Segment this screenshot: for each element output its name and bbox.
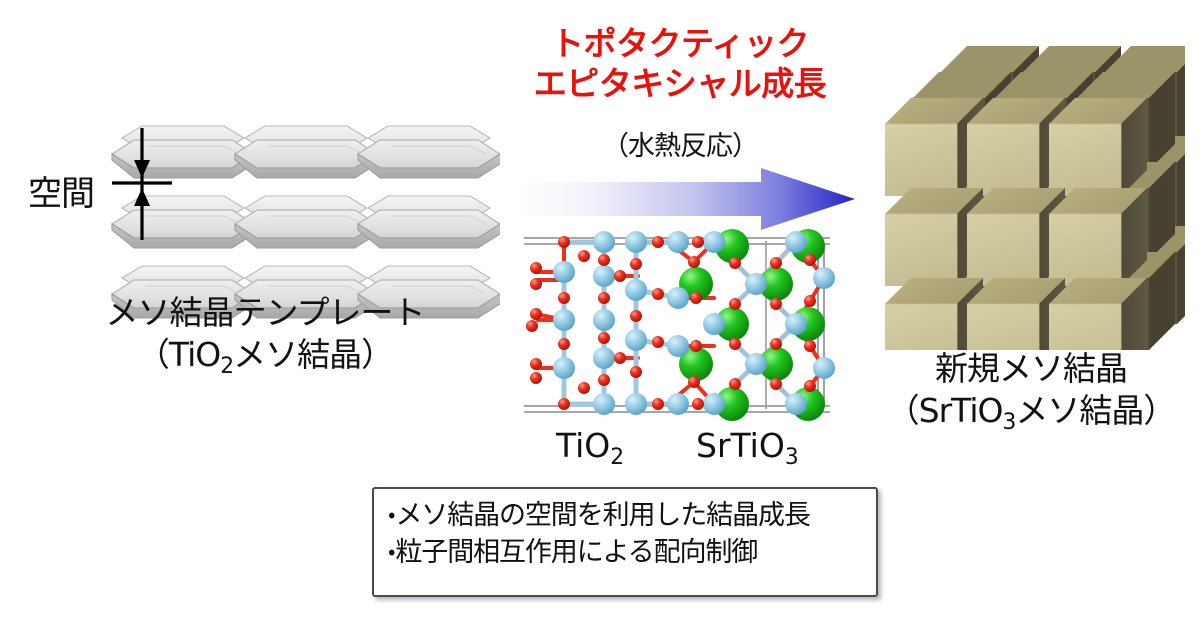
template-caption-line2: （TiO2メソ結晶） (40, 334, 490, 381)
product-formula-suffix: メソ結晶） (1015, 391, 1175, 430)
srtio3-subscript: 3 (785, 445, 799, 470)
atomic-structure-illustration (518, 228, 836, 424)
process-title-line1: トポタクティック (470, 24, 890, 64)
label-tio2: TiO2 (556, 426, 624, 470)
crystal-phase-labels: TiO2 SrTiO3 (518, 426, 848, 470)
srtio3-mesocrystal-cube-array (885, 20, 1185, 350)
template-caption: メソ結晶テンプレート （TiO2メソ結晶） (40, 292, 490, 381)
tio2-prefix: TiO (556, 426, 610, 465)
interlayer-gap-dimension-arrow (112, 128, 172, 240)
rightward-gradient-arrow (519, 168, 855, 230)
product-formula-prefix: （SrTiO (887, 391, 1003, 430)
figure-canvas: トポタクティック エピタキシャル成長 （水熱反応） (0, 0, 1200, 630)
ti-lattice-struts (564, 242, 678, 404)
tio2-subscript: 2 (610, 445, 624, 470)
summary-line-2: ・粒子間相互作用による配向制御 (388, 534, 876, 571)
label-srtio3: SrTiO3 (696, 426, 799, 470)
process-subtitle: （水熱反応） (470, 124, 890, 163)
process-title: トポタクティック エピタキシャル成長 (470, 24, 890, 105)
summary-line-2-text: 粒子間相互作用による配向制御 (395, 537, 757, 568)
gap-label: 空間 (28, 166, 94, 215)
cube-front-layer (885, 98, 1147, 350)
template-formula-suffix: メソ結晶） (233, 335, 393, 374)
bullet-icon: ・ (388, 503, 394, 528)
template-caption-line1: メソ結晶テンプレート (40, 292, 490, 334)
template-formula-subscript: 2 (220, 354, 233, 379)
mesocrystal-template-illustration (0, 110, 500, 320)
summary-callout-box: ・メソ結晶の空間を利用した結晶成長 ・粒子間相互作用による配向制御 (372, 487, 878, 597)
summary-line-1: ・メソ結晶の空間を利用した結晶成長 (388, 497, 876, 534)
product-formula-subscript: 3 (1002, 410, 1015, 435)
product-caption-line1: 新規メソ結晶 (862, 348, 1200, 390)
summary-line-1-text: メソ結晶の空間を利用した結晶成長 (395, 500, 809, 531)
template-formula-prefix: （TiO (137, 335, 220, 374)
product-caption-line2: （SrTiO3メソ結晶） (862, 390, 1200, 437)
product-caption: 新規メソ結晶 （SrTiO3メソ結晶） (862, 348, 1200, 437)
process-title-line2: エピタキシャル成長 (470, 64, 890, 104)
srtio3-prefix: SrTiO (696, 426, 785, 465)
bullet-icon: ・ (388, 540, 394, 565)
